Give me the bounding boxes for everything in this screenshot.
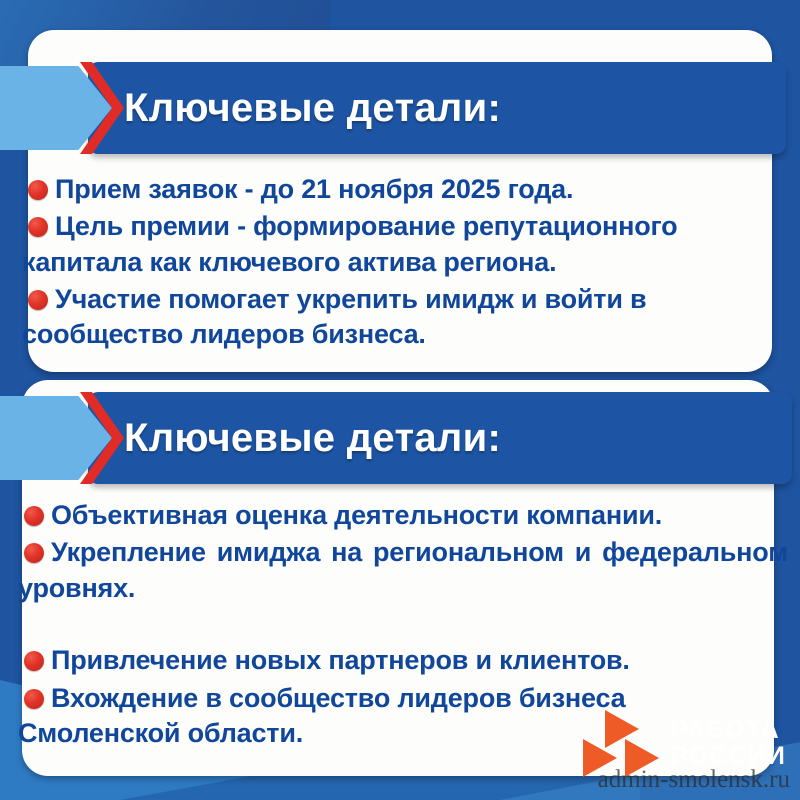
bullet-dot-icon bbox=[28, 217, 48, 237]
logo-line-1: РАБОТА bbox=[671, 717, 786, 744]
bullet-item: Привлечение новых партнеров и клиентов. bbox=[18, 643, 788, 678]
bullet-text: Вхождение в сообщество лидеров бизнеса С… bbox=[18, 683, 625, 748]
bullet-dot-icon bbox=[24, 689, 44, 709]
bullet-text-bold: Цель премии bbox=[55, 211, 230, 241]
bullet-item: Укрепление имиджа на региональном и феде… bbox=[18, 535, 788, 641]
section-banner-1: Ключевые детали: bbox=[0, 62, 786, 154]
poster-canvas: Ключевые детали: Прием заявок - до 21 но… bbox=[0, 0, 800, 800]
bullet-item: Объективная оценка деятельности компании… bbox=[18, 498, 788, 533]
bullet-item: Прием заявок - до 21 ноября 2025 года. bbox=[22, 172, 788, 207]
bullet-dot-icon bbox=[24, 543, 44, 563]
section-title-1: Ключевые детали: bbox=[124, 62, 776, 154]
chevron-red-icon bbox=[58, 392, 130, 484]
bullet-item: Участие помогает укрепить имидж и войти … bbox=[22, 282, 788, 353]
bullet-dot-icon bbox=[28, 180, 48, 200]
section-title-2: Ключевые детали: bbox=[124, 392, 782, 484]
chevron-red-icon bbox=[58, 62, 130, 154]
bullet-text: Прием заявок - до 21 ноября 2025 года. bbox=[55, 174, 573, 204]
bullet-dot-icon bbox=[24, 651, 44, 671]
bullet-item: Цель премии - формирование репутационног… bbox=[22, 209, 788, 280]
bullet-text: Объективная оценка деятельности компании… bbox=[51, 500, 662, 530]
section-body-1: Прием заявок - до 21 ноября 2025 года. Ц… bbox=[22, 172, 788, 355]
watermark-text: admin-smolensk.ru bbox=[598, 766, 790, 794]
bullet-text: Участие помогает укрепить имидж и войти … bbox=[22, 284, 646, 349]
logo-text: РАБОТА РОССИИ bbox=[671, 717, 786, 770]
bullet-dot-icon bbox=[24, 506, 44, 526]
bullet-text: Привлечение новых партнеров и клиентов. bbox=[51, 645, 630, 675]
section-banner-2: Ключевые детали: bbox=[0, 392, 792, 484]
bullet-text: Укрепление имиджа на региональном и феде… bbox=[18, 537, 788, 602]
bullet-dot-icon bbox=[28, 290, 48, 310]
